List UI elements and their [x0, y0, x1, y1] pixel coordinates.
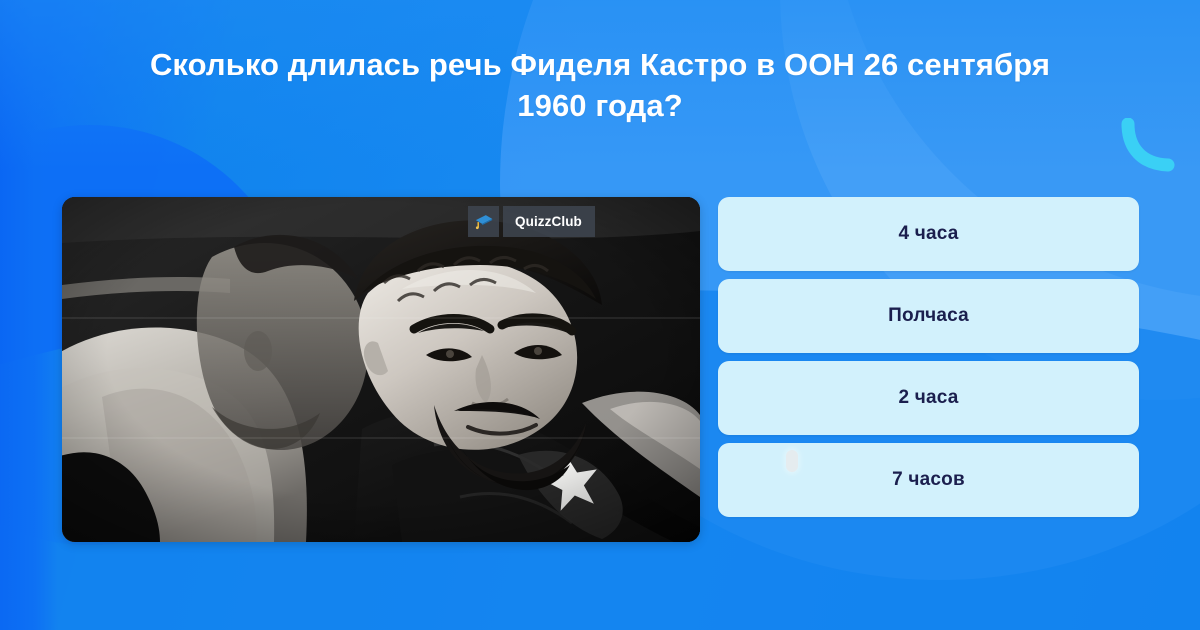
- answer-option-2[interactable]: Полчаса: [718, 279, 1139, 353]
- answer-option-3-label: 2 часа: [898, 387, 958, 409]
- answer-option-4[interactable]: 7 часов: [718, 443, 1139, 517]
- question-title-line-1: Сколько длилась речь Фиделя Кастро в ООН…: [150, 47, 1050, 82]
- answer-option-1[interactable]: 4 часа: [718, 197, 1139, 271]
- text-cursor-indicator: [786, 450, 798, 472]
- answer-option-4-label: 7 часов: [892, 469, 965, 491]
- quiz-card: Сколько длилась речь Фиделя Кастро в ООН…: [0, 0, 1200, 630]
- question-title-line-2: 1960 года?: [517, 88, 682, 123]
- photo-illustration: [62, 197, 700, 542]
- answer-option-2-label: Полчаса: [888, 305, 969, 327]
- answer-option-1-label: 4 часа: [898, 223, 958, 245]
- graduation-cap-icon: [468, 206, 499, 237]
- question-title: Сколько длилась речь Фиделя Кастро в ООН…: [70, 44, 1130, 126]
- question-image: [62, 197, 700, 542]
- watermark-brand: QuizzClub: [503, 206, 595, 237]
- swoosh-icon: [1118, 118, 1180, 176]
- answer-list: 4 часа Полчаса 2 часа 7 часов: [718, 197, 1139, 517]
- watermark: QuizzClub: [468, 206, 595, 237]
- answer-option-3[interactable]: 2 часа: [718, 361, 1139, 435]
